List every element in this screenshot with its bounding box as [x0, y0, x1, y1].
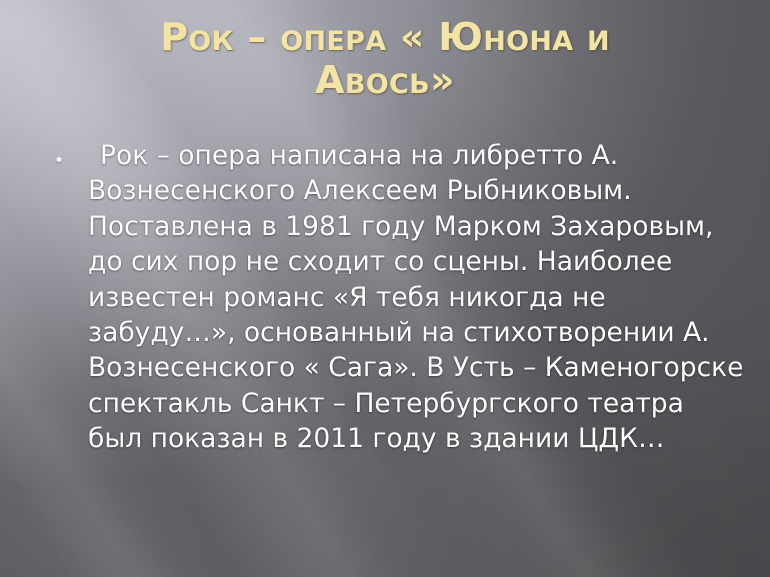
- slide-title: Рок – опера « Юнона и Авось»: [40, 16, 730, 103]
- slide-body-text: Рок – опера написана на либретто А. Возн…: [88, 138, 746, 456]
- slide-content: Рок – опера « Юнона и Авось» • Рок – опе…: [0, 0, 770, 577]
- bulleted-paragraph: • Рок – опера написана на либретто А. Во…: [54, 138, 746, 456]
- presentation-slide: Рок – опера « Юнона и Авось» • Рок – опе…: [0, 0, 770, 577]
- bullet-icon: •: [54, 138, 88, 170]
